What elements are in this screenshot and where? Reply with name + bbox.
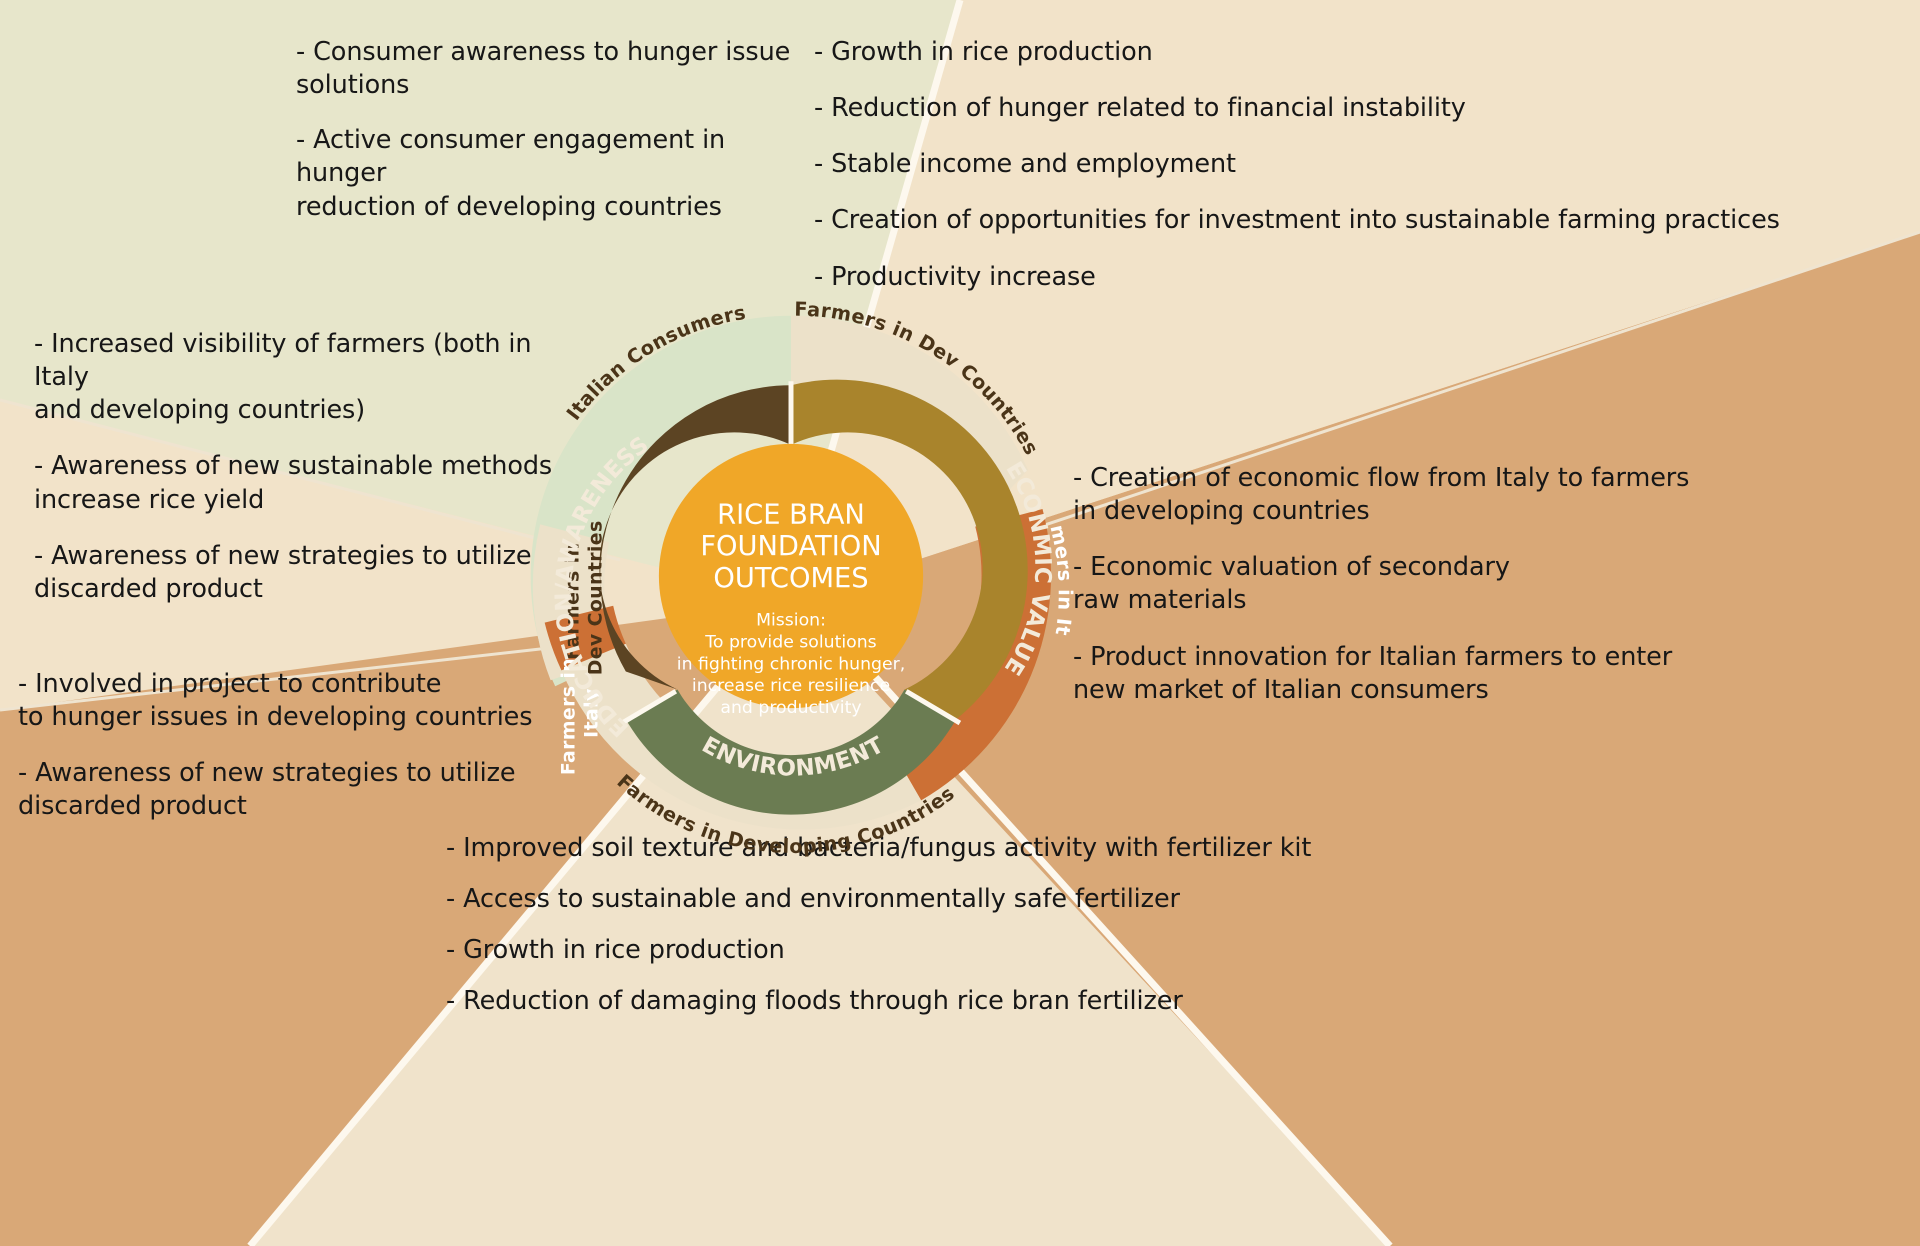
center-title-line-3: OUTCOMES: [713, 563, 868, 594]
bullet-item: - Stable income and employment: [814, 148, 1904, 181]
text-block-economic-value: - Creation of economic flow from Italy t…: [1073, 462, 1873, 707]
bullet-item: - Growth in rice production: [446, 934, 1346, 967]
text-block-italian-consumers: - Consumer awareness to hunger issue sol…: [296, 36, 816, 246]
mission-line-2: in fighting chronic hunger,: [677, 654, 905, 674]
bullet-item: - Involved in project to contribute to h…: [18, 668, 538, 734]
center-title: RICE BRAN FOUNDATION OUTCOMES: [700, 499, 881, 594]
center-title-line-1: RICE BRAN: [717, 499, 865, 530]
mission-line-3: increase rice resilience: [692, 676, 890, 696]
mission-label: Mission:: [756, 611, 826, 631]
center-title-line-2: FOUNDATION: [700, 531, 881, 562]
bullet-item: - Growth in rice production: [814, 36, 1904, 69]
bullet-item: - Creation of opportunities for investme…: [814, 204, 1904, 237]
mission-line-4: and productivity: [720, 698, 861, 718]
bullet-item: - Active consumer engagement in hunger r…: [296, 124, 816, 223]
text-block-farmers-dev-countries: - Growth in rice production - Reduction …: [814, 36, 1904, 317]
bullet-item: - Product innovation for Italian farmers…: [1073, 641, 1873, 707]
bullet-item: - Awareness of new strategies to utilize…: [18, 757, 538, 823]
mission-line-1: To provide solutions: [704, 633, 876, 653]
bullet-item: - Consumer awareness to hunger issue sol…: [296, 36, 816, 102]
bullet-item: - Creation of economic flow from Italy t…: [1073, 462, 1873, 528]
bullet-item: - Economic valuation of secondary raw ma…: [1073, 551, 1873, 617]
text-block-farmers-italy: - Involved in project to contribute to h…: [18, 668, 538, 824]
outcomes-wheel: Italian Consumers Farmers in Dev Countri…: [493, 278, 1089, 874]
bullet-item: - Reduction of hunger related to financi…: [814, 92, 1904, 125]
label-line-2: Dev Countries: [584, 520, 606, 675]
infographic-canvas: - Consumer awareness to hunger issue sol…: [0, 0, 1920, 1246]
bullet-item: - Reduction of damaging floods through r…: [446, 985, 1346, 1018]
bullet-item: - Access to sustainable and environmenta…: [446, 883, 1346, 916]
